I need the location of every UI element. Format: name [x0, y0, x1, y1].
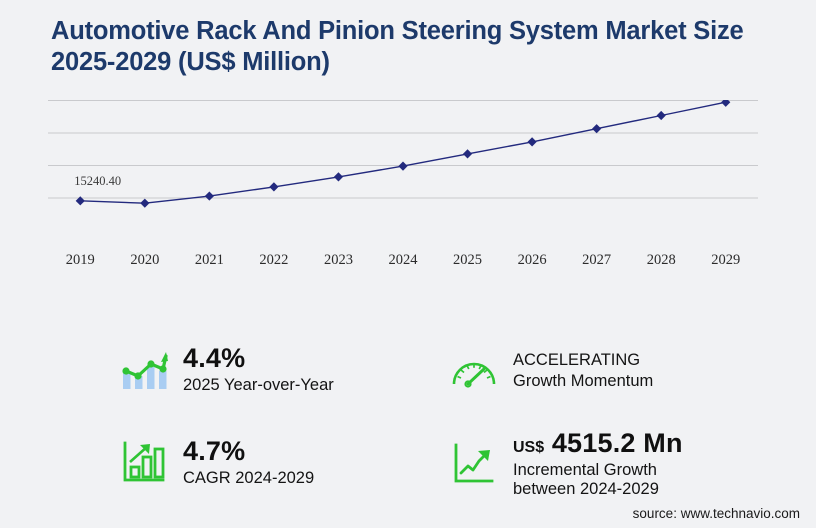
kpi-incremental-growth-label-line1: Incremental Growth [513, 461, 657, 479]
kpi-incremental-growth-label: Incremental Growth between 2024-2029 [513, 461, 683, 500]
data-point-2024 [398, 162, 407, 171]
kpi-cagr: 4.7% CAGR 2024-2029 [118, 436, 314, 488]
x-tick-2023: 2023 [306, 252, 371, 276]
x-tick-2021: 2021 [177, 252, 242, 276]
data-point-2026 [527, 137, 536, 146]
kpi-incremental-growth-text: US$ 4515.2 Mn Incremental Growth between… [513, 428, 683, 500]
bar-line-growth-icon [118, 343, 170, 395]
kpi-cagr-text: 4.7% CAGR 2024-2029 [183, 436, 314, 488]
line-chart-plot: 15240.40 [48, 100, 758, 230]
x-tick-2022: 2022 [242, 252, 307, 276]
page-title: Automotive Rack And Pinion Steering Syst… [51, 16, 771, 79]
data-point-markers [76, 100, 731, 208]
kpi-year-over-year-text: 4.4% 2025 Year-over-Year [183, 343, 334, 395]
market-size-line [80, 102, 725, 203]
x-tick-2027: 2027 [564, 252, 629, 276]
x-tick-2019: 2019 [48, 252, 113, 276]
data-label-2019: 15240.40 [74, 174, 121, 189]
x-tick-2029: 2029 [693, 252, 758, 276]
x-tick-2028: 2028 [629, 252, 694, 276]
kpi-cagr-label: CAGR 2024-2029 [183, 469, 314, 488]
bar-chart-arrow-icon [118, 436, 170, 488]
x-tick-2024: 2024 [371, 252, 436, 276]
data-point-2023 [334, 172, 343, 181]
kpi-growth-momentum: ACCELERATING Growth Momentum [448, 345, 653, 397]
kpi-incremental-growth: US$ 4515.2 Mn Incremental Growth between… [448, 428, 683, 500]
kpi-incremental-growth-amount: 4515.2 Mn [552, 428, 683, 458]
speedometer-icon [448, 345, 500, 397]
data-point-2029 [721, 100, 730, 107]
page-title-line2: 2025-2029 (US$ Million) [51, 48, 330, 76]
kpi-cagr-value: 4.7% [183, 436, 314, 468]
page-title-line1: Automotive Rack And Pinion Steering Syst… [51, 17, 744, 45]
kpi-year-over-year-label: 2025 Year-over-Year [183, 376, 334, 395]
source-label: source: www.technavio.com [633, 506, 800, 521]
kpi-year-over-year: 4.4% 2025 Year-over-Year [118, 343, 334, 395]
data-point-2022 [269, 182, 278, 191]
trend-line-icon [448, 438, 500, 490]
kpi-incremental-growth-unit: US$ [513, 439, 544, 456]
x-tick-2026: 2026 [500, 252, 565, 276]
kpi-incremental-growth-label-line2: between 2024-2029 [513, 480, 683, 499]
kpi-incremental-growth-value: US$ 4515.2 Mn [513, 428, 683, 460]
x-tick-2020: 2020 [113, 252, 178, 276]
line-chart-svg [48, 100, 758, 230]
kpi-growth-momentum-label: Growth Momentum [513, 372, 653, 391]
x-axis-labels: 2019 2020 2021 2022 2023 2024 2025 2026 … [48, 252, 758, 276]
data-point-2025 [463, 149, 472, 158]
x-tick-2025: 2025 [435, 252, 500, 276]
data-point-2027 [592, 124, 601, 133]
kpi-growth-momentum-text: ACCELERATING Growth Momentum [513, 351, 653, 391]
data-point-2028 [657, 111, 666, 120]
data-point-2021 [205, 191, 214, 200]
data-point-2020 [140, 199, 149, 208]
kpi-growth-momentum-heading: ACCELERATING [513, 351, 653, 370]
kpi-year-over-year-value: 4.4% [183, 343, 334, 375]
chart-page: Automotive Rack And Pinion Steering Syst… [0, 0, 816, 528]
